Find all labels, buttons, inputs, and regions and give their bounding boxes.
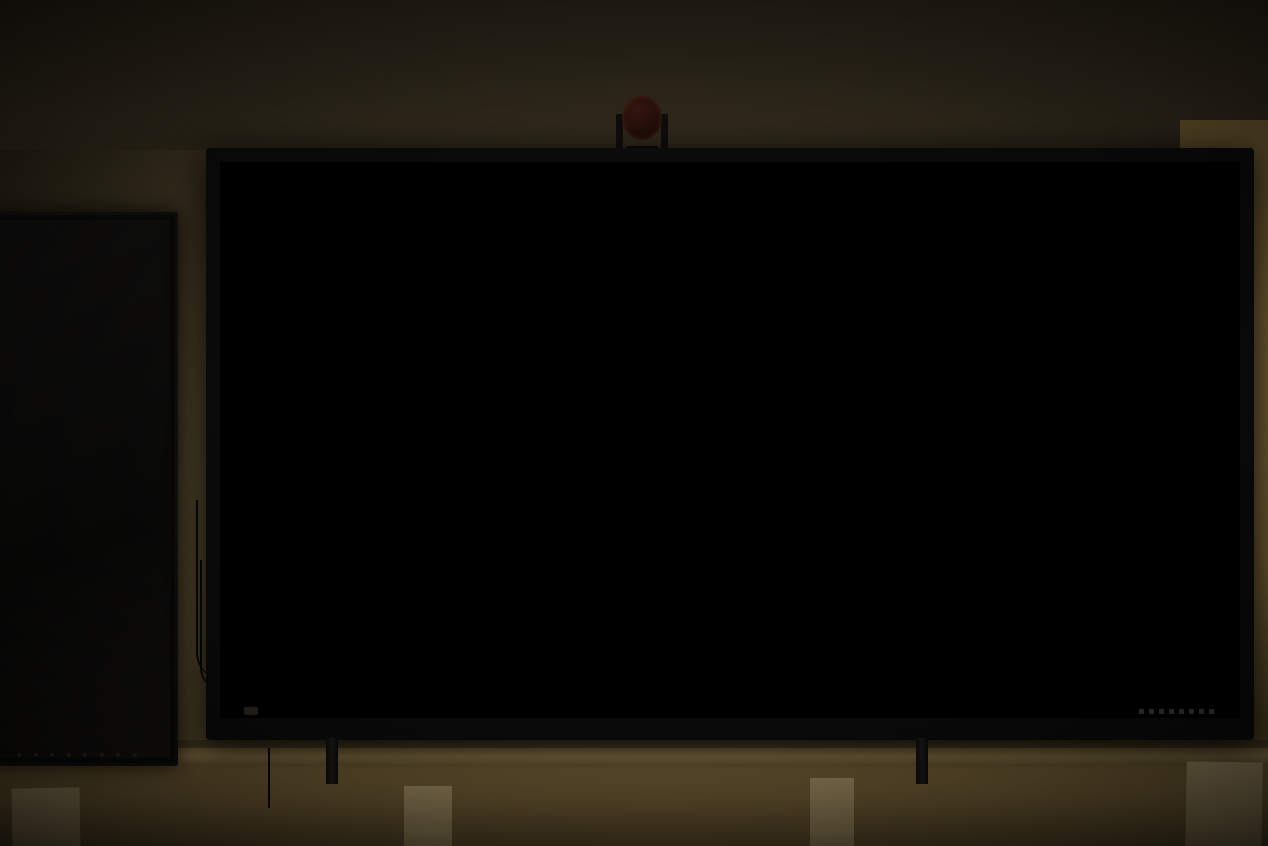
wall-notice-paper (810, 778, 854, 846)
wall-notice-paper (404, 786, 452, 846)
display-brand-logo (244, 707, 258, 715)
wall-rail (0, 748, 1268, 766)
conference-room-scene: 药学院“凝心铸魂学思想，强国复兴 显担当” 专题组织生活会 (0, 0, 1268, 846)
secondary-display-screen (0, 220, 170, 758)
camera-lens-icon (622, 96, 662, 140)
display-stand-leg-right (916, 738, 928, 784)
display-bezel (206, 148, 1254, 740)
display-stand-leg-left (326, 738, 338, 784)
secondary-display-buttons[interactable] (17, 753, 137, 759)
main-display[interactable]: 药学院“凝心铸魂学思想，强国复兴 显担当” 专题组织生活会 (206, 148, 1254, 740)
display-indicator-lights (1139, 709, 1214, 714)
camera-arm-right (661, 114, 668, 148)
wall-notice-paper (1185, 761, 1263, 846)
ptz-camera-icon (614, 96, 670, 152)
secondary-display[interactable] (0, 212, 178, 766)
wall-notice-paper (11, 787, 80, 846)
